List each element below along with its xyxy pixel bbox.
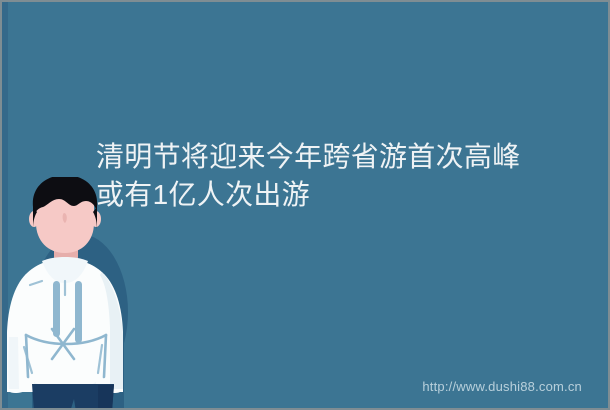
- hoodie: [7, 257, 123, 393]
- headline-line-2: 或有1亿人次出游: [96, 176, 596, 214]
- headline-line-1: 清明节将迎来今年跨省游首次高峰: [96, 138, 596, 176]
- watermark-url: http://www.dushi88.com.cn: [422, 379, 582, 394]
- headline: 清明节将迎来今年跨省游首次高峰 或有1亿人次出游: [96, 138, 596, 214]
- news-thumbnail-card: 清明节将迎来今年跨省游首次高峰 或有1亿人次出游 http://www.dush…: [0, 0, 610, 410]
